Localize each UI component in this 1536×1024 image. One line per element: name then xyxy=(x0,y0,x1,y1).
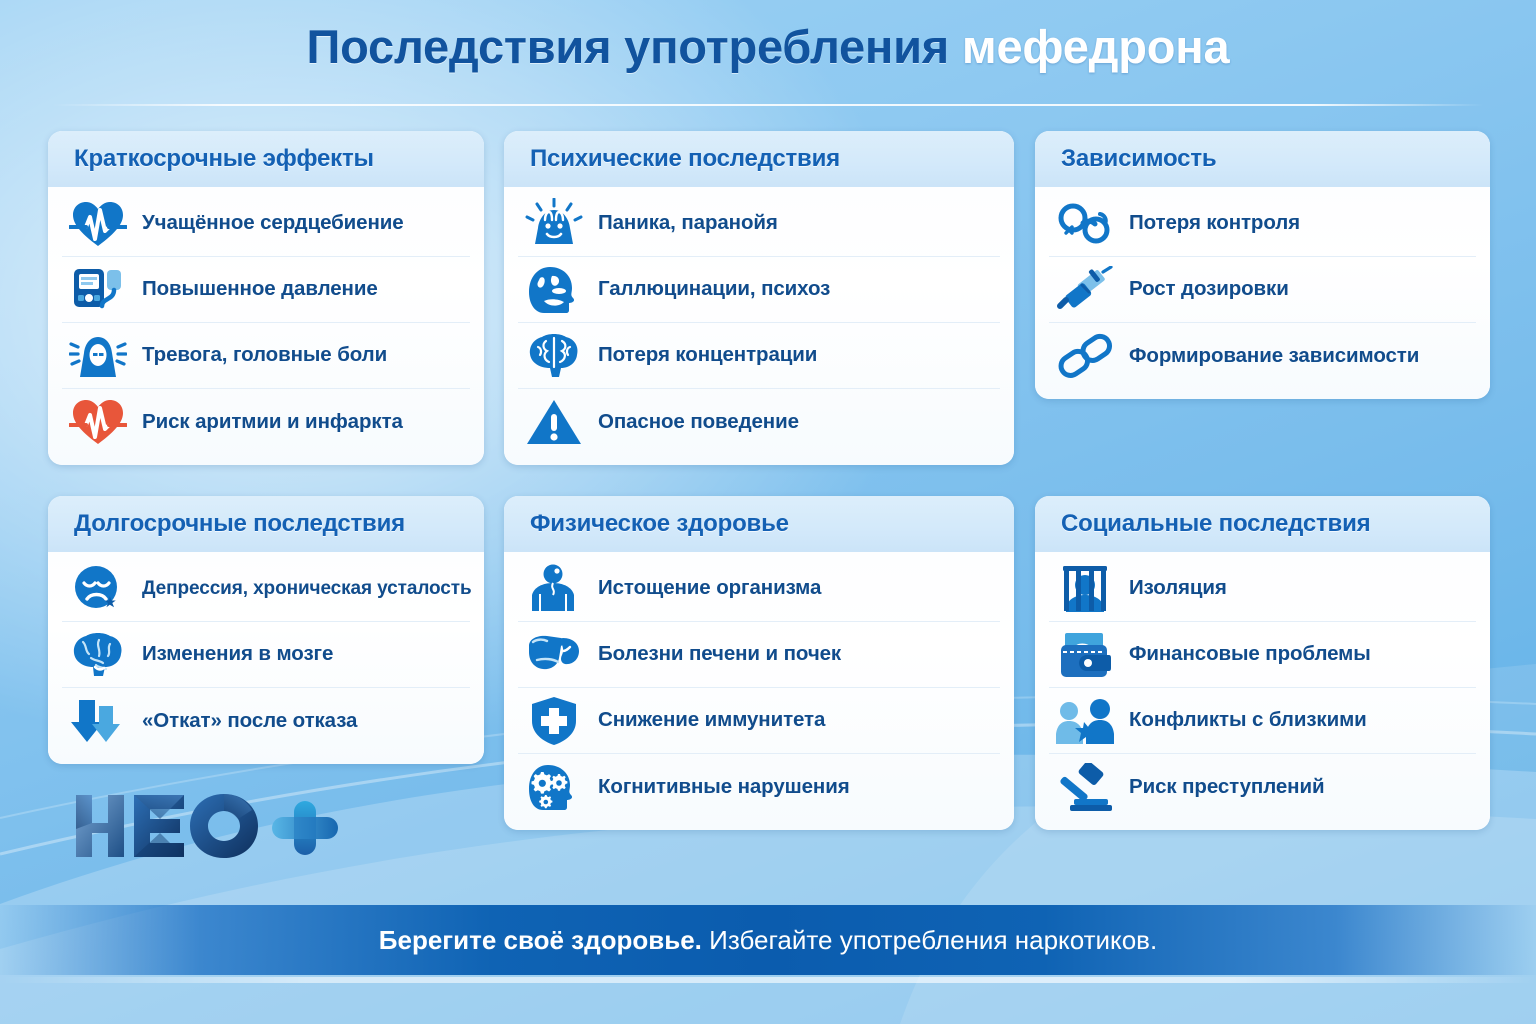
list-item-label: Паника, паранойя xyxy=(598,212,778,235)
list-item[interactable]: Учащённое сердцебиение xyxy=(62,191,470,257)
footer-bold-text: Берегите своё здоровье. xyxy=(379,925,702,955)
list-item-label: Финансовые проблемы xyxy=(1129,643,1371,666)
title-part-highlight: мефедрона xyxy=(962,20,1230,73)
page-title: Последствия употребления мефедрона xyxy=(0,22,1536,71)
list-item-label: Риск аритмии и инфаркта xyxy=(142,411,403,434)
list-item[interactable]: Рост дозировки xyxy=(1049,257,1476,323)
list-item-label: Снижение иммунитета xyxy=(598,709,825,732)
list-item-label: Формирование зависимости xyxy=(1129,345,1419,368)
card-dependency: Зависимость Потеря контроля xyxy=(1035,131,1490,399)
list-item[interactable]: Повышенное давление xyxy=(62,257,470,323)
prison-bars-icon xyxy=(1053,560,1117,618)
poster-title-wrap: Последствия употребления мефедрона xyxy=(0,22,1536,71)
brain-icon xyxy=(522,327,586,385)
list-item-label: Риск преступлений xyxy=(1129,776,1324,799)
conflict-people-icon xyxy=(1053,692,1117,750)
card-social-consequences: Социальные последствия Изоляция xyxy=(1035,496,1490,830)
list-item[interactable]: Болезни печени и почек xyxy=(518,622,1000,688)
card-header: Социальные последствия xyxy=(1035,496,1490,552)
list-item[interactable]: Когнитивные нарушения xyxy=(518,754,1000,820)
list-item-label: Галлюцинации, психоз xyxy=(598,278,830,301)
list-item-label: Тревога, головные боли xyxy=(142,344,387,367)
warning-triangle-icon xyxy=(522,393,586,451)
list-item-label: Учащённое сердцебиение xyxy=(142,212,404,235)
cognitive-gears-head-icon xyxy=(522,758,586,816)
list-item[interactable]: «Откат» после отказа xyxy=(62,688,470,754)
footer-message: Берегите своё здоровье. Избегайте употре… xyxy=(379,927,1157,953)
list-item-label: Опасное поведение xyxy=(598,411,799,434)
card-body: Паника, паранойя Галлюцинации, психоз xyxy=(504,187,1014,465)
list-item[interactable]: Изменения в мозге xyxy=(62,622,470,688)
list-item[interactable]: Риск преступлений xyxy=(1049,754,1476,820)
footer-sheen-decoration xyxy=(0,977,1536,983)
list-item[interactable]: Паника, паранойя xyxy=(518,191,1000,257)
list-item-label: Рост дозировки xyxy=(1129,278,1289,301)
list-item-label: Изменения в мозге xyxy=(142,643,333,666)
card-title: Физическое здоровье xyxy=(530,512,789,536)
list-item-label: Когнитивные нарушения xyxy=(598,776,850,799)
panic-face-icon xyxy=(522,195,586,253)
gavel-icon xyxy=(1053,758,1117,816)
list-item-label: Депрессия, хроническая усталость xyxy=(142,578,472,599)
list-item[interactable]: Потеря контроля xyxy=(1049,191,1476,257)
headache-person-icon xyxy=(66,327,130,385)
list-item-label: Потеря контроля xyxy=(1129,212,1300,235)
card-body: Депрессия, хроническая усталость Изменен… xyxy=(48,552,484,764)
list-item[interactable]: Галлюцинации, психоз xyxy=(518,257,1000,323)
card-header: Краткосрочные эффекты xyxy=(48,131,484,187)
footer-banner: Берегите своё здоровье. Избегайте употре… xyxy=(0,905,1536,975)
list-item[interactable]: Финансовые проблемы xyxy=(1049,622,1476,688)
heart-pulse-icon xyxy=(66,195,130,253)
heart-attack-icon xyxy=(66,393,130,451)
card-long-term-consequences: Долгосрочные последствия Депрессия, хрон… xyxy=(48,496,484,764)
card-header: Зависимость xyxy=(1035,131,1490,187)
list-item[interactable]: Формирование зависимости xyxy=(1049,323,1476,389)
list-item[interactable]: Снижение иммунитета xyxy=(518,688,1000,754)
list-item-label: Повышенное давление xyxy=(142,278,378,301)
card-title: Психические последствия xyxy=(530,147,840,171)
title-part-dark: Последствия употребления xyxy=(307,20,949,73)
chain-link-icon xyxy=(1053,327,1117,385)
card-mental-consequences: Психические последствия Паника, паранойя xyxy=(504,131,1014,465)
card-title: Долгосрочные последствия xyxy=(74,512,405,536)
list-item[interactable]: Тревога, головные боли xyxy=(62,323,470,389)
list-item[interactable]: Истощение организма xyxy=(518,556,1000,622)
list-item[interactable]: Риск аритмии и инфаркта xyxy=(62,389,470,455)
brain-change-icon xyxy=(66,626,130,684)
card-title: Краткосрочные эффекты xyxy=(74,147,374,171)
list-item[interactable]: Депрессия, хроническая усталость xyxy=(62,556,470,622)
card-header: Долгосрочные последствия xyxy=(48,496,484,552)
infographic-poster: Последствия употребления мефедрона Кратк… xyxy=(0,0,1536,1024)
blood-pressure-monitor-icon xyxy=(66,261,130,319)
card-body: Учащённое сердцебиение xyxy=(48,187,484,465)
card-body: Истощение организма Болезни печени и поч… xyxy=(504,552,1014,830)
neo-plus-logo[interactable] xyxy=(68,789,340,867)
card-title: Социальные последствия xyxy=(1061,512,1370,536)
list-item-label: «Откат» после отказа xyxy=(142,710,357,733)
footer-normal-text: Избегайте употребления наркотиков. xyxy=(709,925,1157,955)
card-physical-health: Физическое здоровье Истощение организма xyxy=(504,496,1014,830)
down-arrows-icon xyxy=(66,692,130,750)
card-header: Физическое здоровье xyxy=(504,496,1014,552)
wallet-icon xyxy=(1053,626,1117,684)
syringe-icon xyxy=(1053,261,1117,319)
list-item-label: Истощение организма xyxy=(598,577,821,600)
card-body: Изоляция Финансовые проблемы xyxy=(1035,552,1490,830)
card-header: Психические последствия xyxy=(504,131,1014,187)
card-body: Потеря контроля Рост дозировки xyxy=(1035,187,1490,399)
handcuffs-icon xyxy=(1053,195,1117,253)
sad-face-icon xyxy=(66,560,130,618)
list-item-label: Конфликты с близкими xyxy=(1129,709,1367,732)
list-item[interactable]: Конфликты с близкими xyxy=(1049,688,1476,754)
list-item-label: Болезни печени и почек xyxy=(598,643,841,666)
list-item[interactable]: Изоляция xyxy=(1049,556,1476,622)
list-item-label: Потеря концентрации xyxy=(598,344,817,367)
exhausted-person-icon xyxy=(522,560,586,618)
card-short-term-effects: Краткосрочные эффекты Учащённое сердцеби… xyxy=(48,131,484,465)
list-item-label: Изоляция xyxy=(1129,577,1227,600)
list-item[interactable]: Опасное поведение xyxy=(518,389,1000,455)
liver-kidney-icon xyxy=(522,626,586,684)
card-title: Зависимость xyxy=(1061,147,1216,171)
hallucination-head-icon xyxy=(522,261,586,319)
title-divider xyxy=(52,104,1484,106)
shield-cross-icon xyxy=(522,692,586,750)
list-item[interactable]: Потеря концентрации xyxy=(518,323,1000,389)
